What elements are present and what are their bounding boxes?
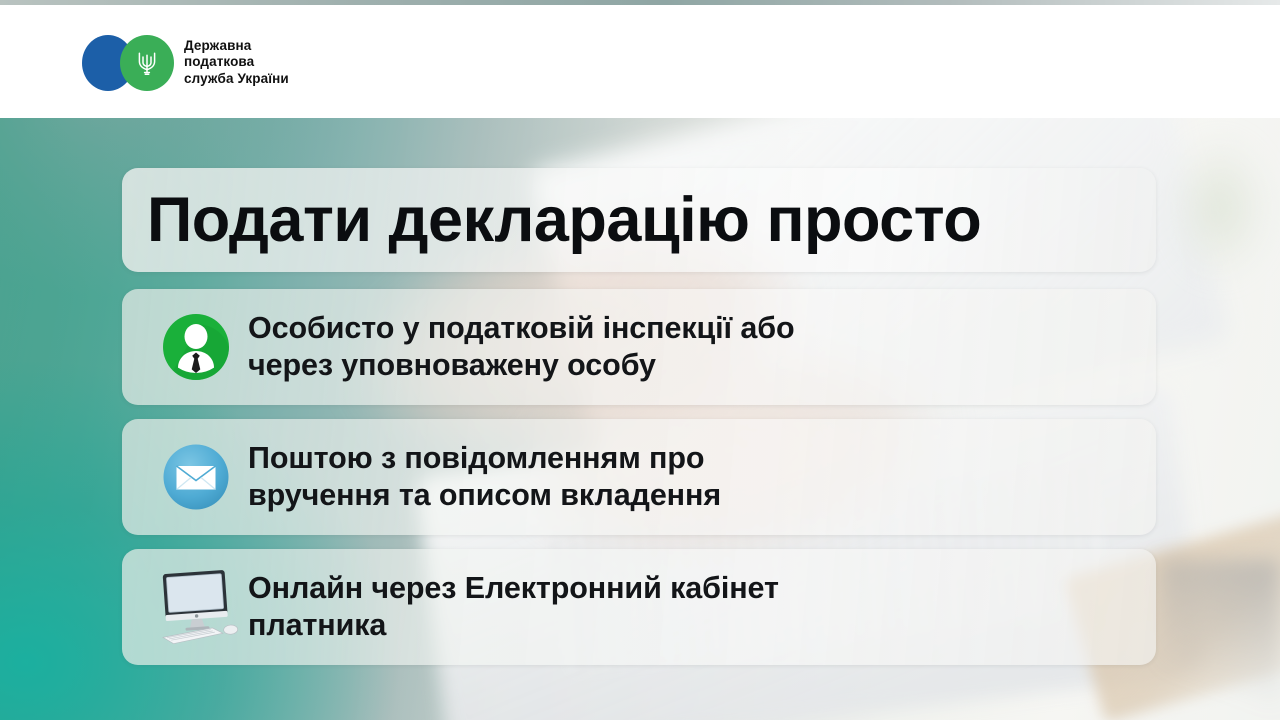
list-item: Особисто у податковій інспекції або чере…	[122, 289, 1156, 405]
logo-text-line-3: служба України	[184, 71, 289, 88]
list-item-text: Онлайн через Електронний кабінет платник…	[248, 570, 803, 644]
desktop-computer-icon	[148, 568, 244, 646]
person-tie-icon	[148, 312, 244, 382]
content-cards: Подати декларацію просто Особисто у пода…	[122, 168, 1156, 665]
list-item-line-1: Особисто у податковій інспекції або	[248, 310, 795, 347]
page-title: Подати декларацію просто	[122, 187, 981, 253]
slide-canvas: Державна податкова служба України Подати…	[0, 0, 1280, 720]
header-bar: Державна податкова служба України	[0, 5, 1280, 118]
list-item-text: Особисто у податковій інспекції або чере…	[248, 310, 819, 384]
ukraine-trident-icon	[136, 50, 158, 76]
list-item: Поштою з повідомленням про вручення та о…	[122, 419, 1156, 535]
list-item-line-1: Поштою з повідомленням про	[248, 440, 721, 477]
list-item-line-2: вручення та описом вкладення	[248, 477, 721, 514]
envelope-mail-icon	[148, 442, 244, 512]
title-card: Подати декларацію просто	[122, 168, 1156, 272]
logo-text-line-1: Державна	[184, 38, 289, 55]
list-item-line-1: Онлайн через Електронний кабінет	[248, 570, 779, 607]
logo-marks	[82, 35, 174, 91]
logo-text-line-2: податкова	[184, 54, 289, 71]
logo-text-block: Державна податкова служба України	[184, 38, 289, 88]
list-item-text: Поштою з повідомленням про вручення та о…	[248, 440, 745, 514]
list-item: Онлайн через Електронний кабінет платник…	[122, 549, 1156, 665]
logo-green-circle-icon	[120, 35, 174, 91]
list-item-line-2: через уповноважену особу	[248, 347, 795, 384]
organization-logo: Державна податкова служба України	[82, 35, 289, 91]
list-item-line-2: платника	[248, 607, 779, 644]
